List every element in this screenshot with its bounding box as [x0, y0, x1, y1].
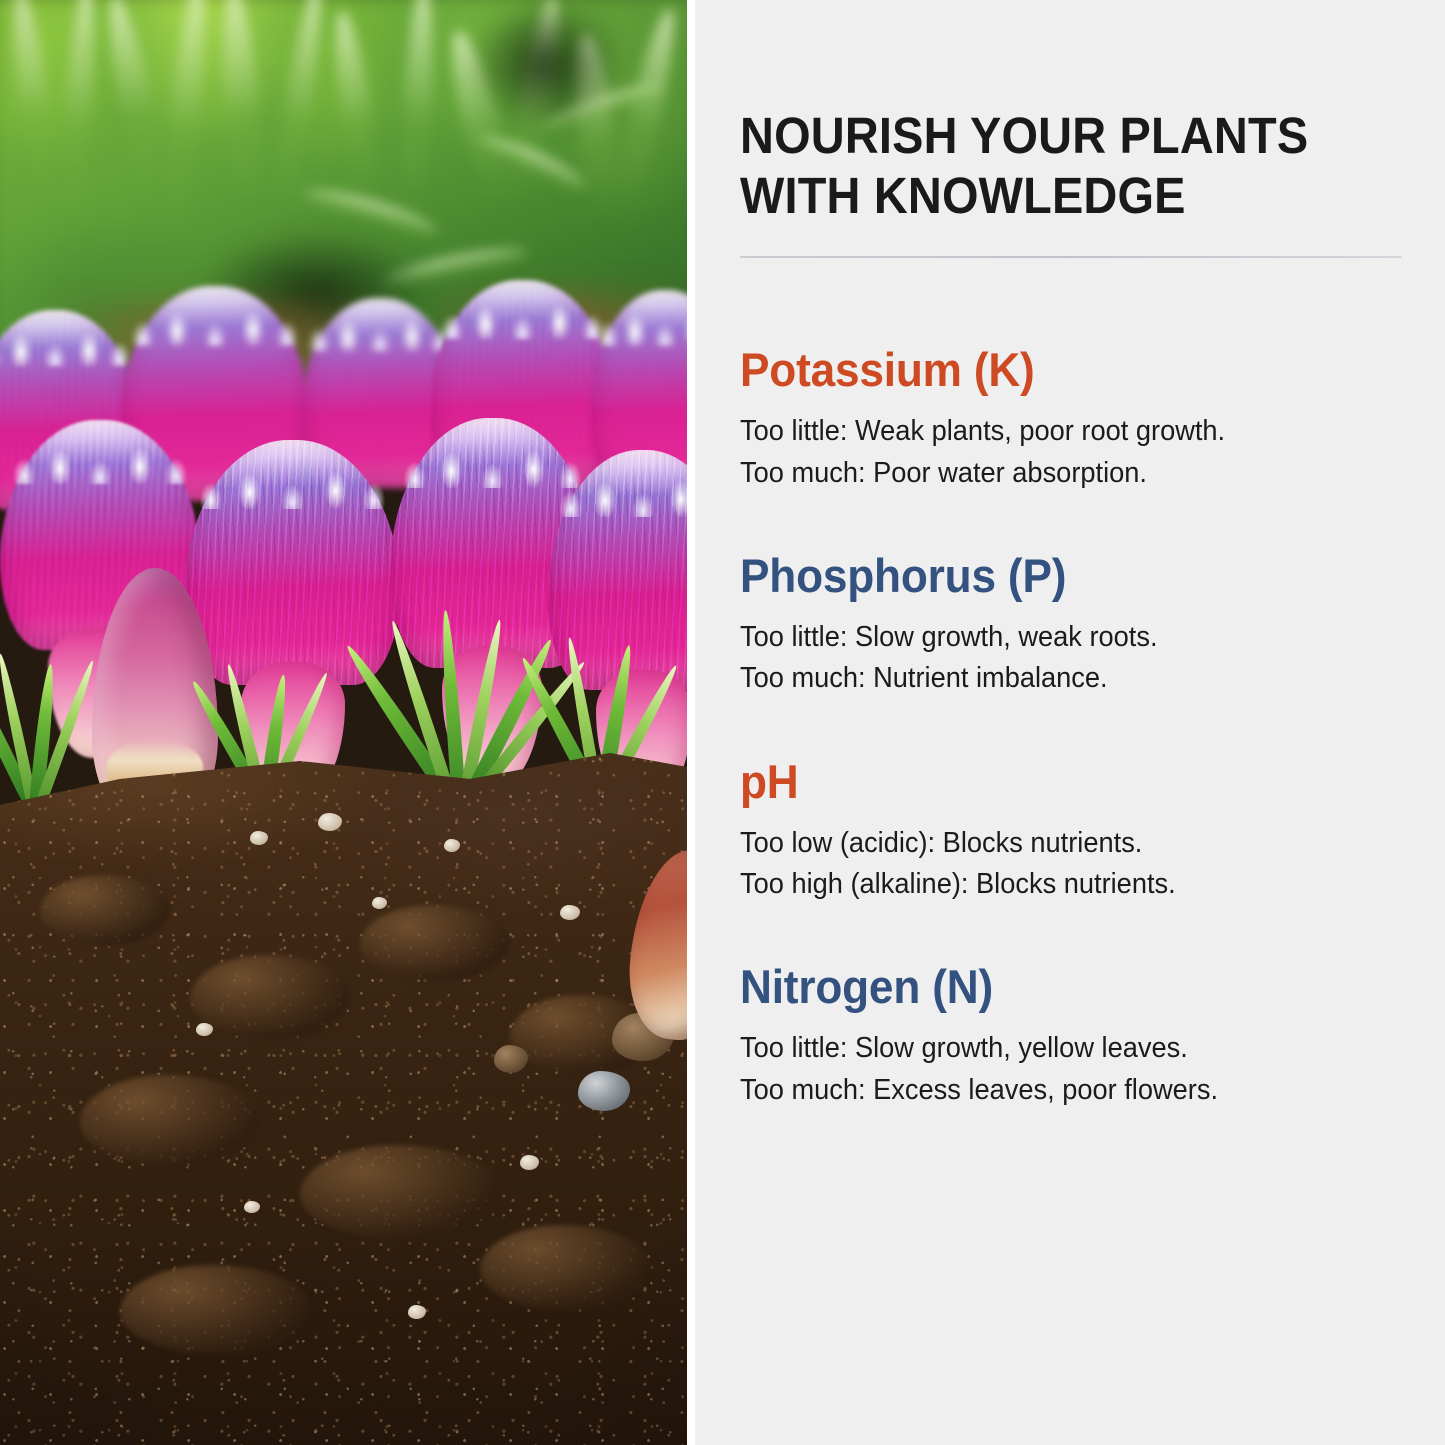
section-line-too-high: Too high (alkaline): Blocks nutrients.	[740, 864, 1375, 905]
infographic-root: NOURISH YOUR PLANTS WITH KNOWLEDGE Potas…	[0, 0, 1445, 1445]
soil-clod	[300, 1145, 500, 1241]
foliage-blade	[217, 0, 266, 204]
section-nitrogen: Nitrogen (N) Too little: Slow growth, ye…	[740, 963, 1405, 1111]
section-heading-phosphorus: Phosphorus (P)	[740, 552, 1365, 599]
section-ph: pH Too low (acidic): Blocks nutrients. T…	[740, 758, 1405, 906]
foliage-blade	[5, 0, 60, 201]
soil-clod	[480, 1225, 650, 1311]
section-potassium: Potassium (K) Too little: Weak plants, p…	[740, 346, 1405, 494]
foliage-blade	[159, 0, 213, 227]
section-line-too-much: Too much: Nutrient imbalance.	[740, 658, 1375, 699]
garden-soil	[0, 745, 687, 1445]
section-phosphorus: Phosphorus (P) Too little: Slow growth, …	[740, 552, 1405, 700]
foliage-blade	[58, 0, 101, 221]
section-line-too-much: Too much: Excess leaves, poor flowers.	[740, 1070, 1375, 1111]
title-divider	[740, 256, 1402, 258]
section-heading-potassium: Potassium (K)	[740, 346, 1365, 393]
foliage-blade	[268, 0, 330, 218]
text-content: NOURISH YOUR PLANTS WITH KNOWLEDGE Potas…	[740, 0, 1405, 1111]
plant-photo	[0, 0, 687, 1445]
panel-gutter	[687, 0, 695, 1445]
foliage-blade	[327, 9, 383, 201]
section-heading-nitrogen: Nitrogen (N)	[740, 963, 1365, 1010]
section-line-too-little: Too little: Weak plants, poor root growt…	[740, 411, 1375, 452]
soil-clod	[120, 1265, 310, 1355]
foliage-shadow	[470, 0, 620, 130]
soil-clod	[80, 1075, 260, 1167]
page-title: NOURISH YOUR PLANTS WITH KNOWLEDGE	[740, 0, 1352, 226]
section-line-too-little: Too little: Slow growth, yellow leaves.	[740, 1028, 1375, 1069]
section-line-too-little: Too little: Slow growth, weak roots.	[740, 617, 1375, 658]
soil-clod	[360, 905, 510, 981]
section-line-too-low: Too low (acidic): Blocks nutrients.	[740, 823, 1375, 864]
nutrient-sections: Potassium (K) Too little: Weak plants, p…	[740, 346, 1405, 1111]
soil-clod	[190, 955, 350, 1039]
foliage-blade	[99, 0, 169, 195]
info-text-panel: NOURISH YOUR PLANTS WITH KNOWLEDGE Potas…	[687, 0, 1445, 1445]
foliage-blade	[398, 0, 438, 212]
section-line-too-much: Too much: Poor water absorption.	[740, 453, 1375, 494]
soil-clod	[40, 875, 170, 945]
section-heading-ph: pH	[740, 758, 1365, 805]
